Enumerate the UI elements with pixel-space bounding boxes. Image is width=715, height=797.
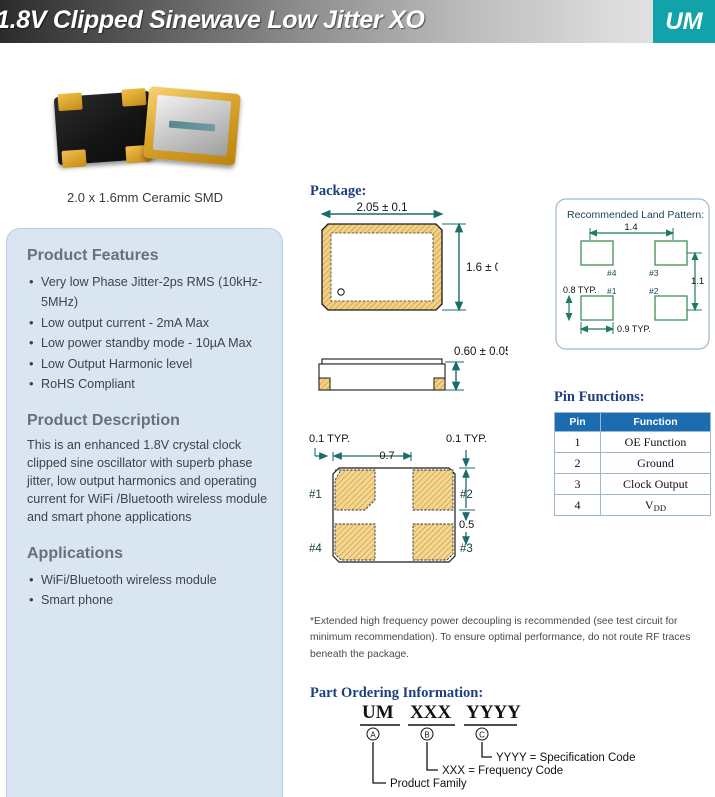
pin-functions-heading: Pin Functions: — [554, 389, 645, 406]
land-pin-label-2: #2 — [649, 286, 659, 296]
cell-function: VDD — [601, 495, 711, 516]
product-info-panel: Product Features Very low Phase Jitter-2… — [6, 228, 283, 797]
table-row: 2 Ground — [555, 453, 711, 474]
product-photo — [50, 88, 250, 178]
dim-side-height: 0.60 ± 0.05 — [454, 346, 508, 358]
land-pin-label-3: #3 — [649, 268, 659, 278]
list-item: WiFi/Bluetooth wireless module — [29, 570, 268, 590]
dim-bottom-left-typ: 0.1 TYP. — [309, 433, 350, 445]
table-row: 3 Clock Output — [555, 474, 711, 495]
ordering-marker-c: C — [479, 731, 485, 740]
photo-caption: 2.0 x 1.6mm Ceramic SMD — [0, 190, 290, 205]
ordering-code-part-1: UM — [362, 702, 394, 723]
dim-pad-gap: 0.5 — [459, 519, 474, 531]
package-bottom-view-drawing: 0.1 TYP. 0.1 TYP. 0.7 #1 #2 #4 #3 0.5 — [303, 428, 503, 573]
list-item: Low output current - 2mA Max — [29, 313, 268, 333]
page-header: 1.8V Clipped Sinewave Low Jitter XO UM — [0, 0, 715, 43]
land-pattern-title: Recommended Land Pattern: — [567, 209, 704, 221]
land-dim-horizontal: 1.4 — [624, 222, 637, 233]
ordering-code-part-2: XXX — [410, 702, 451, 723]
land-dim-vertical: 1.1 — [691, 276, 704, 287]
table-row: 4 VDD — [555, 495, 711, 516]
ordering-marker-a: A — [370, 731, 376, 740]
pin-label-3: #3 — [460, 543, 473, 555]
dim-top-width: 2.05 ± 0.1 — [356, 202, 407, 214]
ordering-legend-c: YYYY = Specification Code — [496, 752, 635, 764]
pin-label-1: #1 — [309, 489, 322, 501]
pin-functions-table: Pin Function 1 OE Function 2 Ground 3 Cl… — [554, 412, 711, 516]
cell-pin: 4 — [555, 495, 601, 516]
chip-bottom-view-image — [143, 86, 241, 166]
ordering-legend-a: Product Family — [390, 778, 467, 790]
cell-pin: 3 — [555, 474, 601, 495]
list-item: Low Output Harmonic level — [29, 354, 268, 374]
table-row: 1 OE Function — [555, 432, 711, 453]
land-dim-pad-width: 0.9 TYP. — [617, 324, 651, 334]
recommended-land-pattern-drawing: Recommended Land Pattern: 1.4 #4 #3 #1 #… — [555, 198, 710, 350]
land-pin-label-4: #4 — [607, 268, 617, 278]
ordering-code-part-3: YYYY — [466, 702, 521, 723]
cell-function: Clock Output — [601, 474, 711, 495]
dim-top-height: 1.6 ± 0.1 — [466, 262, 498, 274]
cell-pin: 1 — [555, 432, 601, 453]
list-item: RoHS Compliant — [29, 374, 268, 394]
dim-bottom-right-typ: 0.1 TYP. — [446, 433, 487, 445]
list-item: Low power standby mode - 10µA Max — [29, 333, 268, 353]
ordering-marker-b: B — [424, 731, 429, 740]
logo-text: UM — [665, 8, 702, 36]
page-title: 1.8V Clipped Sinewave Low Jitter XO — [0, 6, 425, 35]
applications-list: WiFi/Bluetooth wireless module Smart pho… — [29, 570, 268, 611]
footnote-text: *Extended high frequency power decouplin… — [310, 614, 700, 663]
package-top-view-drawing: 2.05 ± 0.1 1.6 ± 0.1 — [308, 200, 498, 330]
package-side-view-drawing: 0.60 ± 0.05 — [308, 345, 508, 405]
table-header-row: Pin Function — [555, 413, 711, 432]
column-header-function: Function — [601, 413, 711, 432]
part-ordering-diagram: UM XXX YYYY A B C YYYY = Specification C… — [310, 700, 710, 795]
list-item: Very low Phase Jitter-2ps RMS (10kHz-5MH… — [29, 272, 268, 313]
cell-pin: 2 — [555, 453, 601, 474]
product-features-list: Very low Phase Jitter-2ps RMS (10kHz-5MH… — [29, 272, 268, 394]
pin-label-4: #4 — [309, 543, 322, 555]
list-item: Smart phone — [29, 590, 268, 610]
cell-function: Ground — [601, 453, 711, 474]
cell-function: OE Function — [601, 432, 711, 453]
land-dim-pad-height: 0.8 TYP. — [563, 285, 597, 295]
product-description-heading: Product Description — [27, 412, 268, 430]
column-header-pin: Pin — [555, 413, 601, 432]
package-heading: Package: — [310, 183, 366, 200]
ordering-legend-b: XXX = Frequency Code — [442, 765, 563, 777]
land-pin-label-1: #1 — [607, 286, 617, 296]
product-description-text: This is an enhanced 1.8V crystal clock c… — [27, 437, 268, 526]
dim-pad-width: 0.7 — [379, 450, 394, 462]
chip-top-view-image — [54, 91, 155, 166]
product-features-heading: Product Features — [27, 247, 268, 265]
applications-heading: Applications — [27, 545, 268, 563]
company-logo: UM — [653, 0, 715, 43]
